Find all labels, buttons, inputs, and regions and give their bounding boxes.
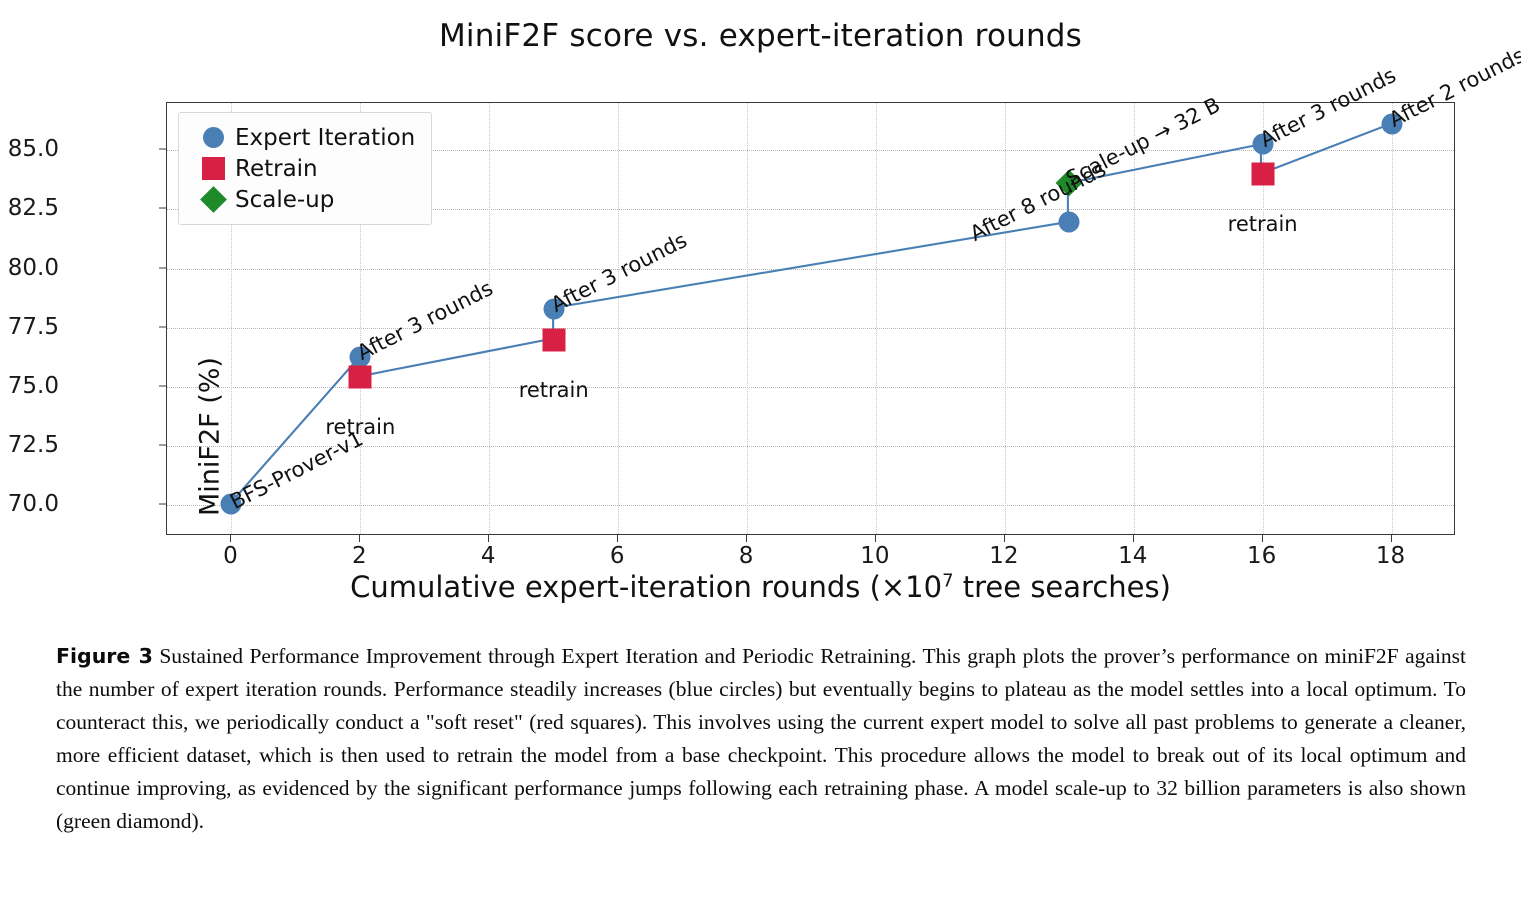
- x-axis-tick-mark: [1391, 535, 1392, 542]
- y-axis-tick-label: 85.0: [0, 136, 59, 162]
- legend-marker-diamond-icon: [191, 190, 235, 209]
- x-axis-tick-label: 8: [701, 543, 791, 569]
- x-axis-label-suffix: tree searches): [954, 570, 1171, 604]
- x-axis-tick-label: 14: [1088, 543, 1178, 569]
- annotation-label: After 2 rounds: [1385, 43, 1521, 132]
- y-axis-tick-label: 72.5: [0, 432, 59, 458]
- x-axis-tick-mark: [230, 535, 231, 542]
- x-axis-tick-mark: [746, 535, 747, 542]
- x-axis-tick-mark: [1004, 535, 1005, 542]
- annotation-label: Scale-up → 32 B: [1062, 93, 1224, 191]
- x-axis-tick-label: 16: [1217, 543, 1307, 569]
- y-axis-tick-label: 80.0: [0, 255, 59, 281]
- y-axis-tick-label: 77.5: [0, 314, 59, 340]
- y-axis-tick-mark: [159, 149, 166, 150]
- legend-label: Expert Iteration: [235, 125, 415, 151]
- plot-area: BFS-Prover-v1After 3 roundsretrainAfter …: [166, 102, 1455, 535]
- legend-marker-circle-icon: [191, 127, 235, 148]
- annotation-label: retrain: [325, 415, 395, 439]
- x-axis-label-exponent: 7: [942, 570, 953, 591]
- y-axis-tick-label: 70.0: [0, 491, 59, 517]
- legend-marker-square-icon: [191, 157, 235, 180]
- x-axis-tick-label: 0: [185, 543, 275, 569]
- x-axis-tick-mark: [875, 535, 876, 542]
- annotation-label: retrain: [1228, 212, 1298, 236]
- chart-legend: Expert IterationRetrainScale-up: [178, 112, 432, 225]
- annotation-label: After 3 rounds: [547, 228, 691, 317]
- chart-title: MiniF2F score vs. expert-iteration round…: [0, 18, 1521, 54]
- x-axis-tick-label: 6: [572, 543, 662, 569]
- annotation-label: BFS-Prover-v1: [227, 426, 368, 514]
- y-axis-tick-mark: [159, 208, 166, 209]
- y-axis-tick-label: 82.5: [0, 195, 59, 221]
- y-axis-tick-mark: [159, 385, 166, 386]
- legend-item-diamond[interactable]: Scale-up: [191, 184, 415, 215]
- x-axis-tick-label: 12: [959, 543, 1049, 569]
- x-axis-label: Cumulative expert-iteration rounds (×107…: [0, 570, 1521, 604]
- legend-label: Scale-up: [235, 187, 334, 213]
- legend-item-square[interactable]: Retrain: [191, 153, 415, 184]
- circle-icon: [203, 127, 224, 148]
- annotation-label: After 3 rounds: [353, 276, 497, 365]
- x-axis-tick-mark: [1133, 535, 1134, 542]
- figure-container: MiniF2F score vs. expert-iteration round…: [0, 0, 1521, 905]
- caption-text: Sustained Performance Improvement throug…: [56, 644, 1466, 833]
- annotation-label: retrain: [519, 378, 589, 402]
- x-axis-tick-label: 10: [830, 543, 920, 569]
- caption-label: Figure 3: [56, 644, 153, 668]
- square-icon: [202, 157, 225, 180]
- y-axis-tick-mark: [159, 326, 166, 327]
- legend-label: Retrain: [235, 156, 318, 182]
- x-axis-tick-mark: [488, 535, 489, 542]
- y-axis-tick-mark: [159, 267, 166, 268]
- diamond-icon: [200, 186, 227, 213]
- annotation-label: After 3 rounds: [1256, 63, 1400, 152]
- x-axis-tick-mark: [617, 535, 618, 542]
- x-axis-tick-mark: [1262, 535, 1263, 542]
- y-axis-tick-mark: [159, 445, 166, 446]
- x-axis-tick-label: 4: [443, 543, 533, 569]
- x-axis-tick-label: 2: [314, 543, 404, 569]
- y-axis-tick-mark: [159, 504, 166, 505]
- legend-item-circle[interactable]: Expert Iteration: [191, 122, 415, 153]
- x-axis-tick-label: 18: [1346, 543, 1436, 569]
- x-axis-label-prefix: Cumulative expert-iteration rounds (×10: [350, 570, 942, 604]
- y-axis-tick-label: 75.0: [0, 373, 59, 399]
- x-axis-tick-mark: [359, 535, 360, 542]
- figure-caption: Figure 3 Sustained Performance Improveme…: [56, 640, 1466, 838]
